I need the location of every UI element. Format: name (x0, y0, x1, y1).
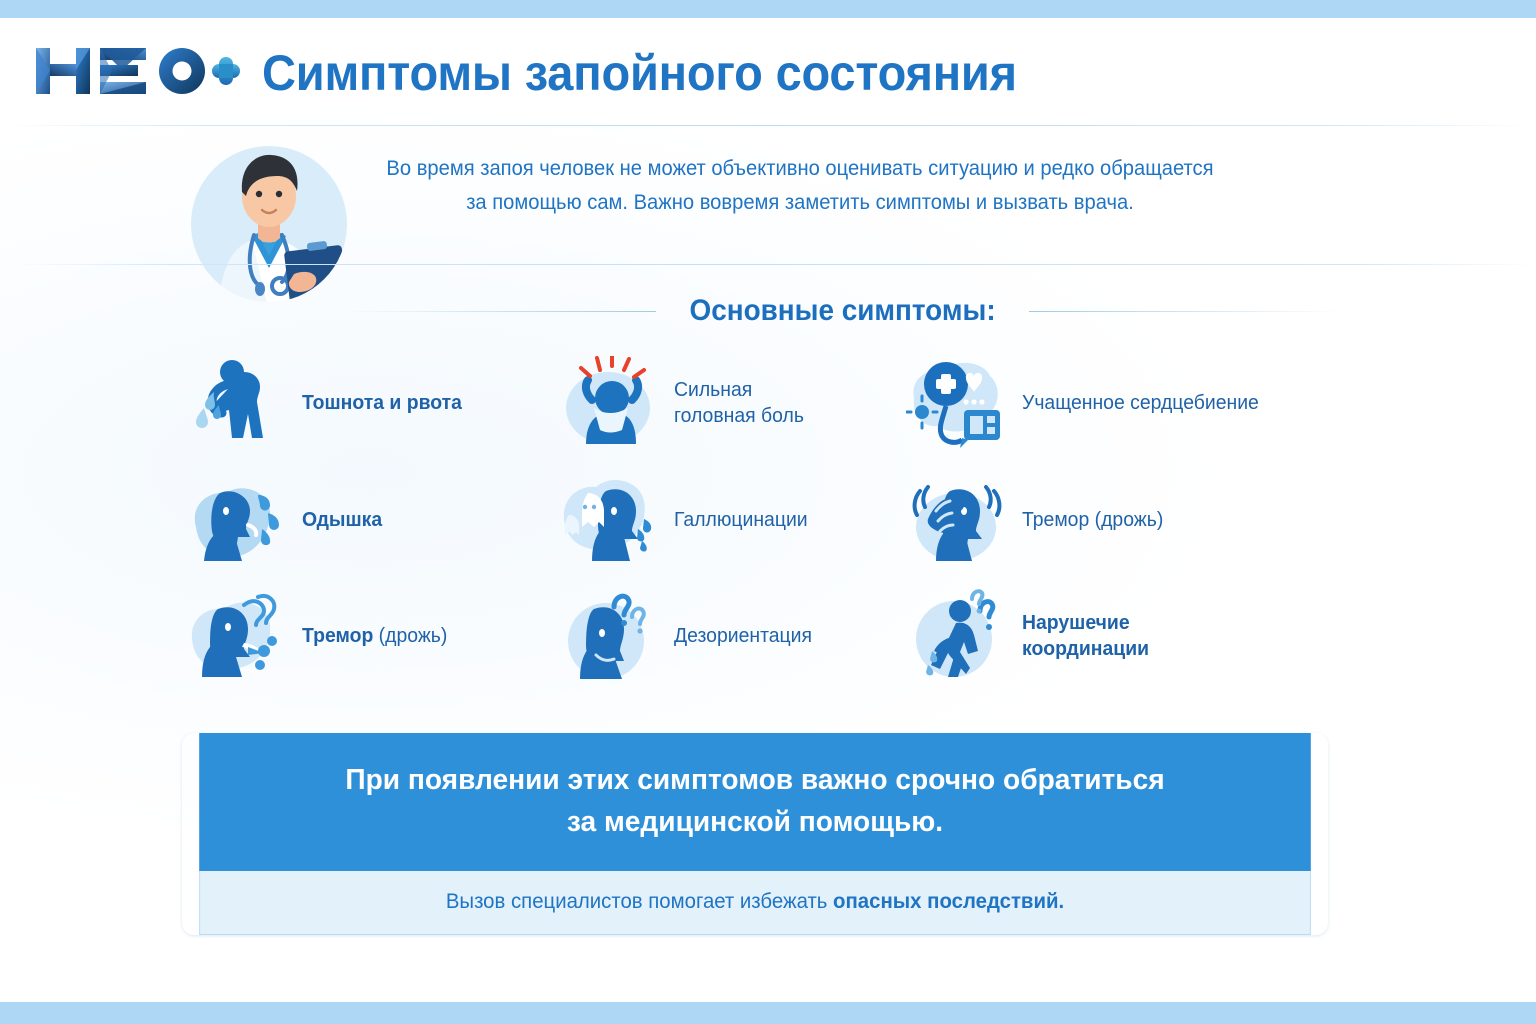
symptom-label: Тошнота и рвота (302, 390, 462, 416)
callout-sub-message: Вызов специалистов помогает избежать опа… (199, 871, 1311, 935)
trembling-head-icon (906, 473, 1010, 567)
symptom-label: Сильная головная боль (674, 377, 804, 429)
callout-sub-regular: Вызов специалистов помогает избежать (446, 890, 833, 913)
header-divider (0, 125, 1536, 126)
top-accent-band (0, 0, 1536, 18)
intro-line-1: Во время запоя человек не может объектив… (330, 152, 1271, 186)
symptom-label-tail: (дрожь) (373, 625, 447, 647)
heading-rule-left (345, 311, 656, 312)
symptom-item: Одышка (186, 462, 558, 577)
intro-line-2: за помощью сам. Важно вовремя заметить с… (330, 186, 1271, 220)
symptom-label: Учащенное сердцебиение (1022, 390, 1259, 416)
symptom-item: Тошнота и рвота (186, 344, 558, 462)
symptom-label: Нарушечие координации (1022, 610, 1149, 662)
heading-rule-right (1029, 311, 1340, 312)
symptom-item: Сильная головная боль (558, 344, 906, 462)
symptom-item: Тремор (дрожь) (186, 577, 558, 695)
symptom-label-main: Тремор (302, 625, 373, 647)
symptom-label: Дезориентация (674, 623, 812, 649)
symptom-item: Галлюцинации (558, 462, 906, 577)
page-header: Симптомы запойного состояния (0, 18, 1536, 126)
symptom-item: Учащенное сердцебиение (906, 344, 1346, 462)
breathless-person-icon (186, 473, 290, 567)
intro-paragraph: Во время запоя человек не может объектив… (330, 152, 1271, 220)
callout-sub-bold: опасных последствий. (833, 890, 1064, 913)
section-heading: Основные симптомы: (345, 288, 1340, 334)
confused-person-icon (558, 589, 662, 683)
callout-main-message: При появлении этих симптомов важно срочн… (199, 733, 1311, 871)
vomiting-person-icon (186, 356, 290, 450)
callout-line-2: за медицинской помощью. (238, 801, 1272, 843)
symptom-label-line-1: Сильная (674, 377, 804, 403)
hallucination-ghost-icon (558, 473, 662, 567)
symptom-item: Тремор (дрожь) (906, 462, 1346, 577)
infographic-page: Симптомы запойного состояния (0, 0, 1536, 1024)
neo-plus-logo (30, 40, 242, 102)
symptom-item: Дезориентация (558, 577, 906, 695)
page-title: Симптомы запойного состояния (262, 44, 1017, 102)
section-heading-label: Основные симптомы: (689, 294, 995, 328)
heart-monitor-icon (906, 356, 1010, 450)
symptom-label: Тремор (дрожь) (302, 623, 447, 649)
symptom-label-line-2: координации (1022, 636, 1149, 662)
symptom-label: Тремор (дрожь) (1022, 507, 1163, 533)
bottom-accent-band (0, 1002, 1536, 1024)
headache-person-icon (558, 356, 662, 450)
callout-line-1: При появлении этих симптомов важно срочн… (238, 759, 1272, 801)
shaking-person-icon (186, 589, 290, 683)
symptom-label-line-1: Нарушечие (1022, 610, 1149, 636)
symptom-item: Нарушечие координации (906, 577, 1346, 695)
symptom-label: Одышка (302, 507, 382, 533)
symptom-label: Галлюцинации (674, 507, 808, 533)
unsteady-walk-icon (906, 589, 1010, 683)
callout-banner: При появлении этих симптомов важно срочн… (182, 733, 1328, 935)
symptoms-grid: Тошнота и рвота Сильная го (186, 344, 1346, 695)
intro-divider (0, 264, 1536, 265)
symptom-label-line-2: головная боль (674, 403, 804, 429)
